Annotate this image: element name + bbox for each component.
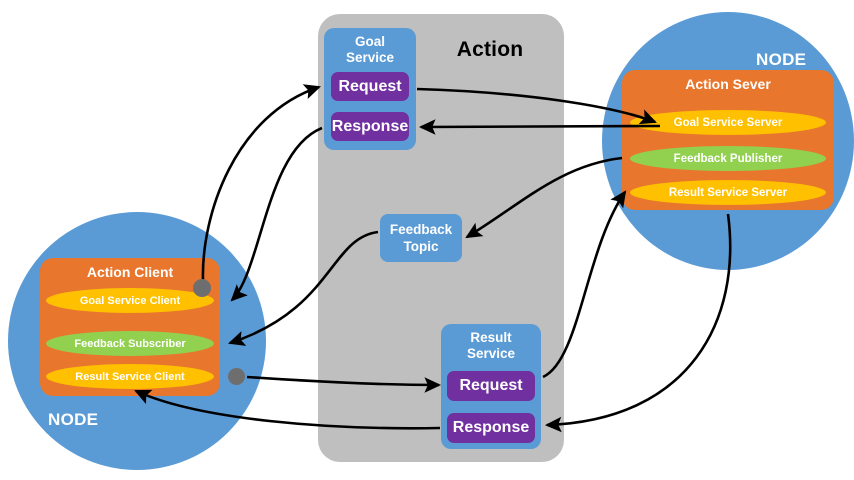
diagram-canvas: Action NODE NODE Action Client Goal Serv…: [0, 0, 854, 480]
feedback-subscriber-pill[interactable]: Feedback Subscriber: [46, 331, 214, 356]
feedback-topic-box[interactable]: Feedback Topic: [380, 214, 462, 262]
action-client-box: Action Client Goal Service Client Feedba…: [40, 258, 220, 396]
goal-service-request-box[interactable]: Request: [331, 72, 409, 101]
goal-service-client-pill[interactable]: Goal Service Client: [46, 288, 214, 313]
feedback-topic-line1: Feedback: [390, 221, 452, 238]
result-service-request-box[interactable]: Request: [447, 371, 535, 401]
action-panel-title: Action: [430, 38, 550, 62]
result-service-client-pill[interactable]: Result Service Client: [46, 364, 214, 389]
result-service-server-pill[interactable]: Result Service Server: [630, 180, 826, 205]
goal-service-response-box[interactable]: Response: [331, 112, 409, 141]
goal-service-client-connector-dot: [193, 279, 211, 297]
goal-service-title-line1: Goal: [324, 34, 416, 50]
server-node-label: NODE: [756, 50, 806, 70]
action-server-title: Action Sever: [622, 76, 834, 92]
result-service-client-connector-dot: [228, 368, 245, 385]
action-server-box: Action Sever Goal Service Server Feedbac…: [622, 70, 834, 210]
result-service-response-box[interactable]: Response: [447, 413, 535, 443]
result-service-title: Result Service: [441, 330, 541, 362]
goal-service-box: Goal Service Request Response: [324, 28, 416, 150]
feedback-topic-line2: Topic: [404, 238, 439, 255]
feedback-publisher-pill[interactable]: Feedback Publisher: [630, 146, 826, 171]
goal-service-server-pill[interactable]: Goal Service Server: [630, 110, 826, 135]
goal-service-title-line2: Service: [324, 50, 416, 66]
result-service-box: Result Service Request Response: [441, 324, 541, 449]
action-client-title: Action Client: [40, 264, 220, 280]
client-node-label: NODE: [48, 410, 98, 430]
result-service-title-line2: Service: [441, 346, 541, 362]
result-service-title-line1: Result: [441, 330, 541, 346]
goal-service-title: Goal Service: [324, 34, 416, 66]
